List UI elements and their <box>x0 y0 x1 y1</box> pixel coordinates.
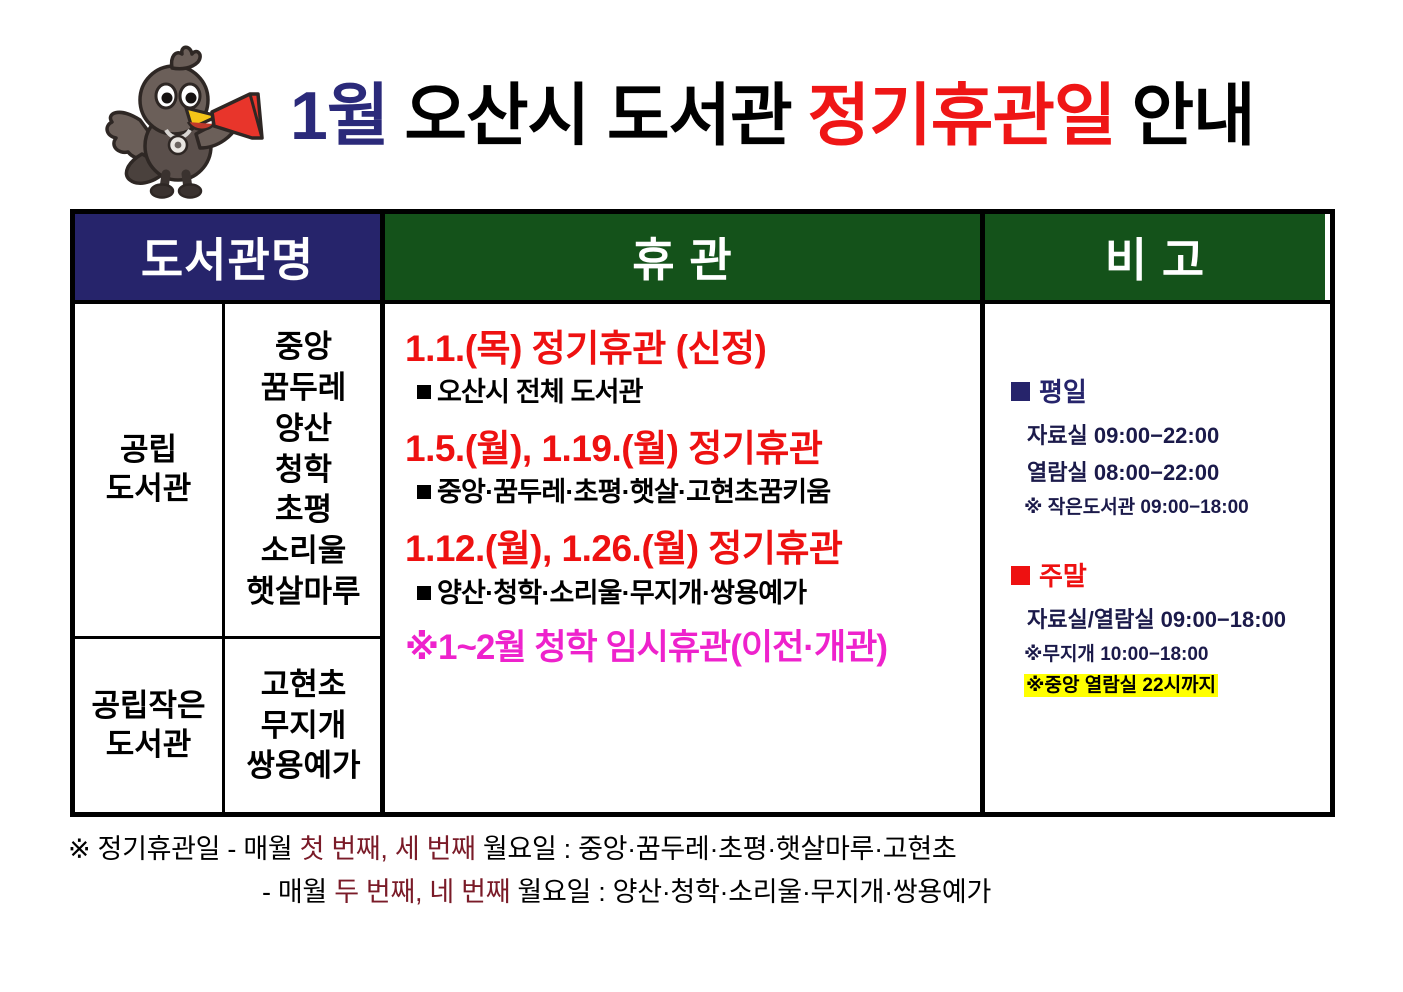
page-header: 1월오산시 도서관정기휴관일안내 <box>0 0 1403 205</box>
closure-libraries-2: 중앙·꿈두레·초평·햇살·고현초꿈키움 <box>405 475 980 510</box>
closure-column: 1.1.(목) 정기휴관 (신정) 오산시 전체 도서관 1.5.(월), 1.… <box>385 304 985 817</box>
bullet-square-icon <box>417 586 431 600</box>
closure-entry-1: 1.1.(목) 정기휴관 (신정) 오산시 전체 도서관 <box>405 326 980 410</box>
note-weekend-label: 주말 <box>1039 561 1087 591</box>
closure-libraries-2-text: 중앙·꿈두레·초평·햇살·고현초꿈키움 <box>437 477 830 507</box>
footer-notes: ※ 정기휴관일 - 매월 첫 번째, 세 번째 월요일 : 중앙·꿈두레·초평·… <box>0 828 1403 914</box>
title-highlight: 정기휴관일 <box>808 78 1116 154</box>
page-title: 1월오산시 도서관정기휴관일안내 <box>290 76 1300 156</box>
note-weekend-highlight: ※중앙 열람실 22시까지 <box>1011 674 1325 698</box>
list-item: 쌍용예가 <box>246 748 360 783</box>
footer-line-1-accent: 첫 번째, 세 번째 <box>300 834 476 864</box>
library-type-small-public: 공립작은 도서관 <box>75 639 225 813</box>
note-weekday-sub: ※ 작은도서관 09:00−18:00 <box>1011 496 1325 520</box>
library-type-public: 공립 도서관 <box>75 304 225 636</box>
list-item: 청학 <box>275 452 332 487</box>
library-name-column: 공립 도서관 중앙 꿈두레 양산 청학 초평 소리울 햇살마루 <box>75 304 385 817</box>
navy-square-icon <box>1011 382 1030 401</box>
column-header-closure: 휴 관 <box>385 214 985 300</box>
library-branches-public: 중앙 꿈두레 양산 청학 초평 소리울 햇살마루 <box>225 304 380 636</box>
note-column: 평일 자료실 09:00−22:00 열람실 08:00−22:00 ※ 작은도… <box>985 304 1325 817</box>
library-type-small-line2: 도서관 <box>106 727 192 762</box>
red-square-icon <box>1011 566 1030 585</box>
table-body: 공립 도서관 중앙 꿈두레 양산 청학 초평 소리울 햇살마루 <box>75 300 1330 817</box>
footer-line-1-prefix: ※ 정기휴관일 - 매월 <box>68 834 300 864</box>
note-weekday-block: 평일 자료실 09:00−22:00 열람실 08:00−22:00 ※ 작은도… <box>1011 376 1325 520</box>
library-type-small-line1: 공립작은 <box>91 688 205 723</box>
closure-date-3: 1.12.(월), 1.26.(월) 정기휴관 <box>405 526 980 571</box>
table-row-small-library: 공립작은 도서관 고현초 무지개 쌍용예가 <box>75 639 380 813</box>
library-type-public-line2: 도서관 <box>106 471 192 506</box>
note-weekend-block: 주말 자료실/열람실 09:00−18:00 ※무지개 10:00−18:00 … <box>1011 560 1325 697</box>
list-item: 초평 <box>275 492 332 527</box>
note-weekday-header: 평일 <box>1011 376 1325 410</box>
list-item: 무지개 <box>261 708 347 743</box>
title-suffix: 안내 <box>1131 78 1254 154</box>
footer-line-2: - 매월 두 번째, 네 번째 월요일 : 양산·청학·소리울·무지개·쌍용예가 <box>0 871 1403 914</box>
closure-date-1: 1.1.(목) 정기휴관 (신정) <box>405 326 980 371</box>
library-type-public-line1: 공립 <box>120 432 177 467</box>
closure-libraries-3: 양산·청학·소리울·무지개·쌍용예가 <box>405 576 980 611</box>
footer-line-2-suffix: 월요일 : 양산·청학·소리울·무지개·쌍용예가 <box>510 877 991 907</box>
list-item: 소리울 <box>261 533 347 568</box>
list-item: 고현초 <box>261 667 347 702</box>
note-weekday-label: 평일 <box>1039 377 1087 407</box>
note-weekend-sub: ※무지개 10:00−18:00 <box>1011 643 1325 667</box>
column-header-library-name: 도서관명 <box>75 214 385 300</box>
note-weekday-line-1: 자료실 09:00−22:00 <box>1011 422 1325 450</box>
closure-schedule-table: 도서관명 휴 관 비 고 공립 도서관 중앙 꿈두레 양산 <box>70 209 1335 817</box>
bullet-square-icon <box>417 485 431 499</box>
closure-entry-3: 1.12.(월), 1.26.(월) 정기휴관 양산·청학·소리울·무지개·쌍용… <box>405 526 980 610</box>
note-weekend-header: 주말 <box>1011 560 1325 594</box>
footer-line-1-suffix: 월요일 : 중앙·꿈두레·초평·햇살마루·고현초 <box>476 834 957 864</box>
table-row-public-library: 공립 도서관 중앙 꿈두레 양산 청학 초평 소리울 햇살마루 <box>75 304 380 639</box>
footer-line-2-prefix: - 매월 <box>262 877 334 907</box>
library-branches-small-public: 고현초 무지개 쌍용예가 <box>225 639 380 813</box>
bullet-square-icon <box>417 385 431 399</box>
column-header-note: 비 고 <box>985 214 1325 300</box>
note-weekend-highlight-text: ※중앙 열람실 22시까지 <box>1024 674 1218 697</box>
note-weekend-line-1: 자료실/열람실 09:00−18:00 <box>1011 606 1325 634</box>
list-item: 꿈두레 <box>261 370 347 405</box>
list-item: 중앙 <box>275 329 332 364</box>
temporary-closure-notice: ※1~2월 청학 임시휴관(이전·개관) <box>405 627 980 669</box>
table-header-row: 도서관명 휴 관 비 고 <box>75 214 1330 300</box>
closure-entry-2: 1.5.(월), 1.19.(월) 정기휴관 중앙·꿈두레·초평·햇살·고현초꿈… <box>405 426 980 510</box>
closure-date-2: 1.5.(월), 1.19.(월) 정기휴관 <box>405 426 980 471</box>
closure-libraries-1-text: 오산시 전체 도서관 <box>437 377 643 407</box>
crow-mascot-with-megaphone-icon <box>100 42 285 202</box>
closure-libraries-1: 오산시 전체 도서관 <box>405 375 980 410</box>
note-weekday-line-2: 열람실 08:00−22:00 <box>1011 459 1325 487</box>
title-month: 1월 <box>290 78 388 154</box>
footer-line-2-accent: 두 번째, 네 번째 <box>334 877 510 907</box>
closure-libraries-3-text: 양산·청학·소리울·무지개·쌍용예가 <box>437 578 806 608</box>
list-item: 햇살마루 <box>246 574 360 609</box>
list-item: 양산 <box>275 411 332 446</box>
footer-line-1: ※ 정기휴관일 - 매월 첫 번째, 세 번째 월요일 : 중앙·꿈두레·초평·… <box>0 828 1403 871</box>
title-org: 오산시 도서관 <box>404 78 791 154</box>
